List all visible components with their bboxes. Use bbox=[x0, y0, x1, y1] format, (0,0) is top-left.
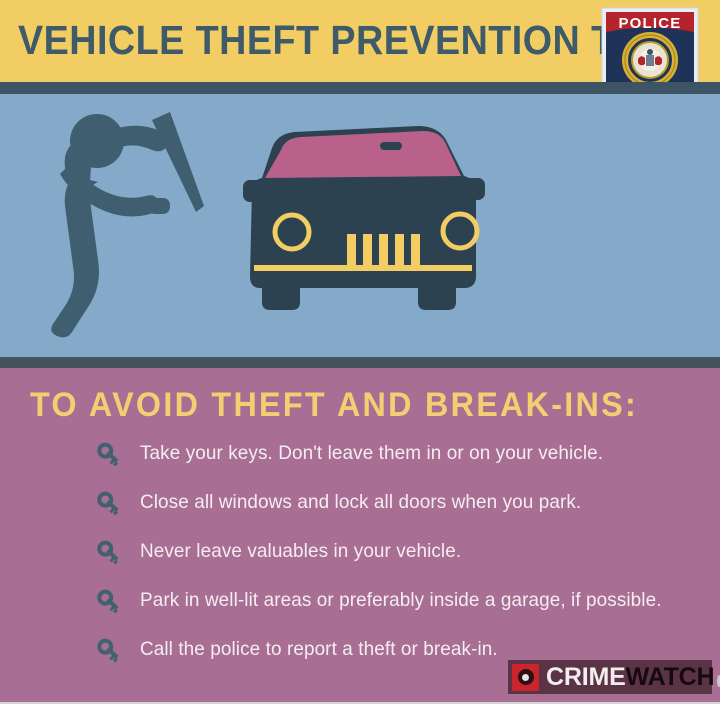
key-icon bbox=[96, 539, 122, 565]
tips-heading: TO AVOID THEFT AND BREAK-INS: bbox=[30, 386, 638, 425]
tip-text: Call the police to report a theft or bre… bbox=[140, 636, 689, 662]
key-icon bbox=[96, 637, 122, 663]
tips-list: Take your keys. Don't leave them in or o… bbox=[96, 440, 706, 685]
key-icon bbox=[96, 490, 122, 516]
crimewatch-watermark: CRIME WATCH bbox=[508, 660, 712, 694]
illustration-band bbox=[0, 94, 720, 357]
page-title: VEHICLE THEFT PREVENTION TIPS bbox=[18, 16, 552, 64]
thief-figure bbox=[51, 112, 204, 337]
tips-band: TO AVOID THEFT AND BREAK-INS: Take your … bbox=[0, 368, 720, 702]
eye-icon bbox=[512, 664, 539, 691]
list-item: Park in well-lit areas or preferably ins… bbox=[96, 587, 706, 636]
tip-text: Take your keys. Don't leave them in or o… bbox=[140, 440, 689, 466]
tip-text: Park in well-lit areas or preferably ins… bbox=[140, 587, 689, 613]
list-item: Never leave valuables in your vehicle. bbox=[96, 538, 706, 587]
car-windshield bbox=[265, 131, 461, 178]
bumper-stripe bbox=[254, 265, 472, 271]
car-break-in-illustration bbox=[0, 94, 720, 357]
tip-text: Close all windows and lock all doors whe… bbox=[140, 489, 689, 515]
key-icon bbox=[96, 441, 122, 467]
watermark-word-crime: CRIME bbox=[546, 663, 626, 692]
list-item: Close all windows and lock all doors whe… bbox=[96, 489, 706, 538]
poster: VEHICLE THEFT PREVENTION TIPS POLICE NET… bbox=[0, 0, 720, 704]
divider-mid bbox=[0, 357, 720, 368]
key-icon bbox=[96, 588, 122, 614]
left-side-mirror bbox=[243, 180, 281, 202]
right-side-mirror bbox=[447, 178, 485, 200]
slim-jim-tool bbox=[152, 112, 204, 212]
divider-top bbox=[0, 82, 720, 94]
watermark-word-watch: WATCH bbox=[626, 663, 715, 692]
list-item: Take your keys. Don't leave them in or o… bbox=[96, 440, 706, 489]
rearview-mirror bbox=[380, 142, 402, 150]
tip-text: Never leave valuables in your vehicle. bbox=[140, 538, 689, 564]
badge-top-banner-text: POLICE bbox=[618, 15, 681, 32]
